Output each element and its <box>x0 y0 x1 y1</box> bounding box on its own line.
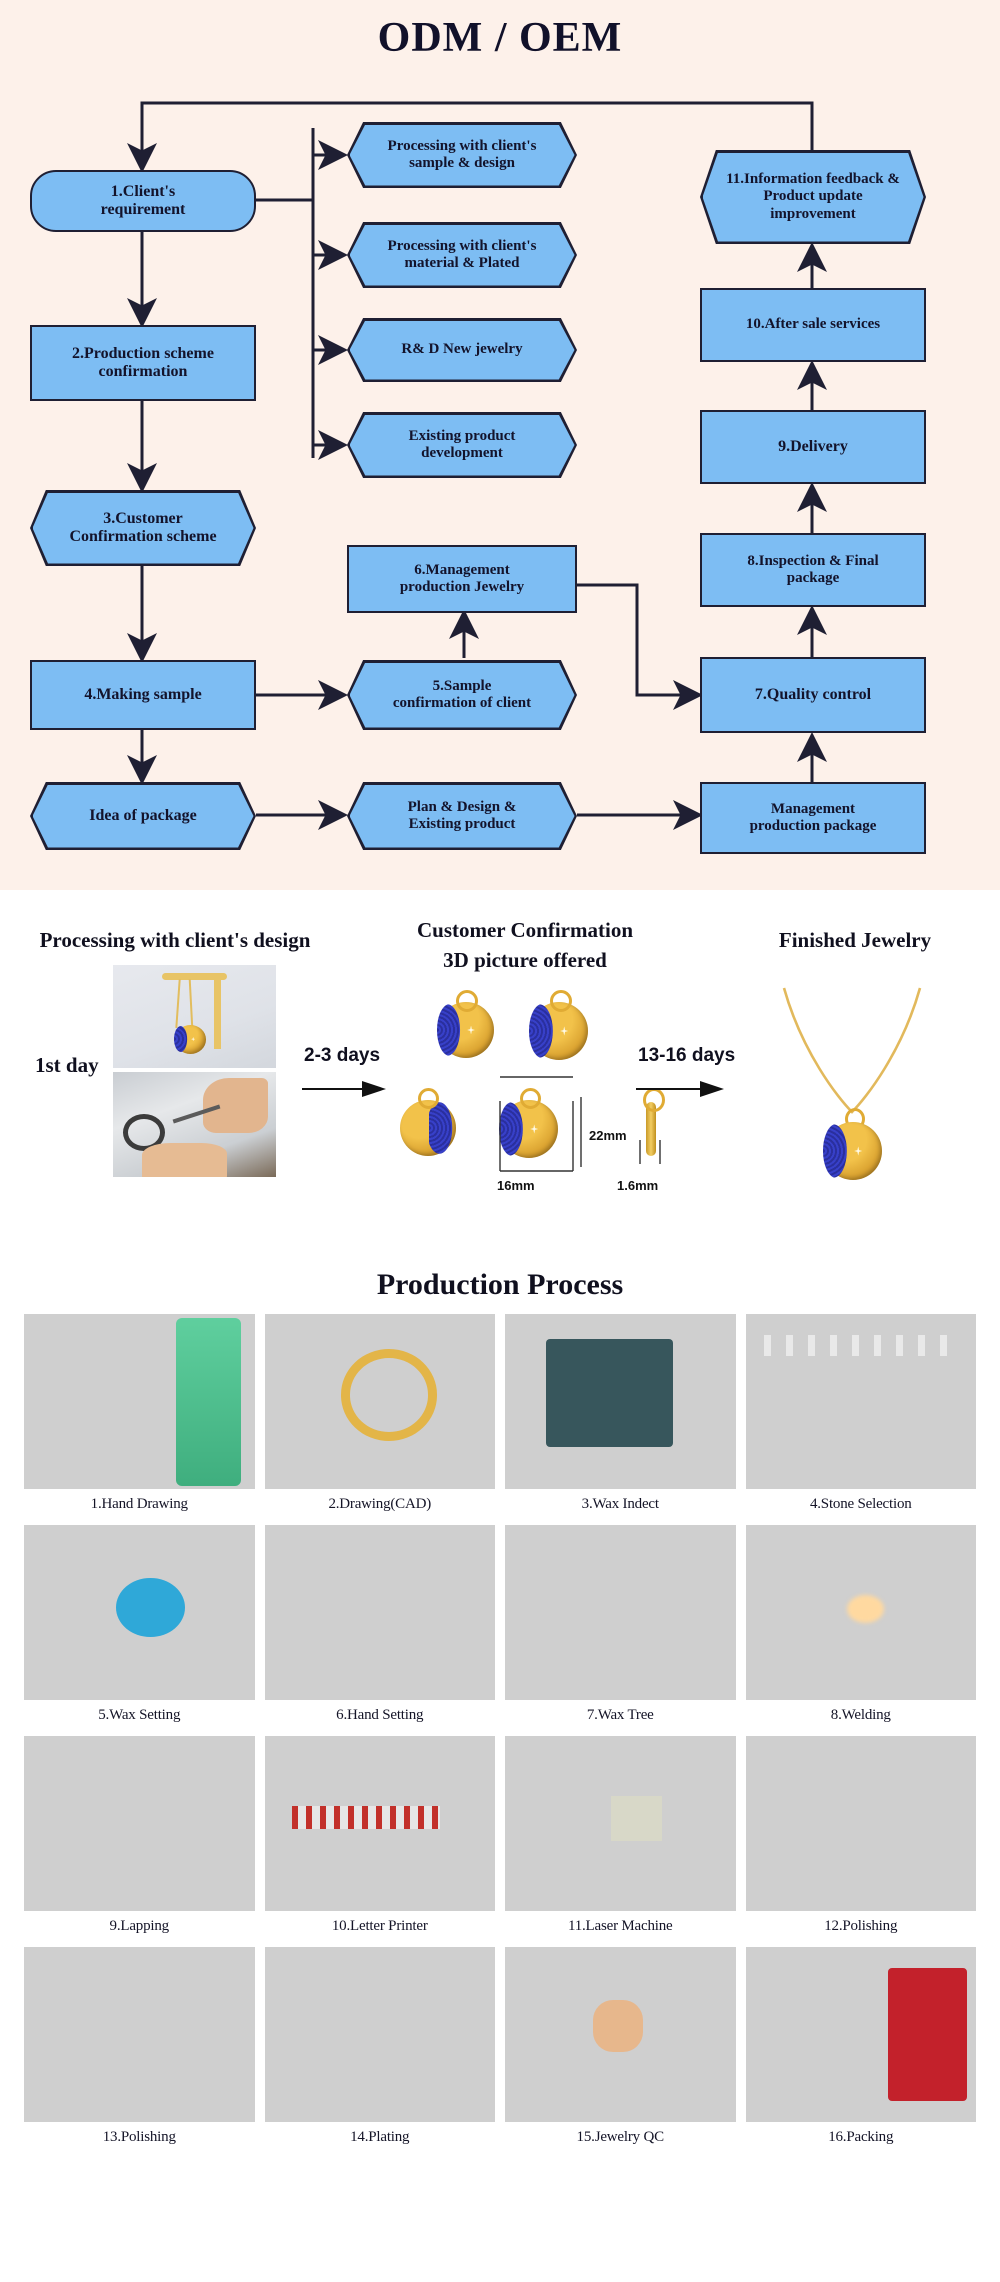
production-step-card[interactable]: 7.Wax Tree <box>505 1525 736 1728</box>
pendant-star <box>854 1146 862 1155</box>
flow-node-idea-of-package[interactable]: Idea of package <box>30 782 256 850</box>
timeline-arrow2-icon <box>634 1075 726 1103</box>
production-step-photo <box>24 1525 255 1700</box>
flow-node-information-feedback[interactable]: 11.Information feedback & Product update… <box>700 150 926 244</box>
production-step-caption: 12.Polishing <box>746 1911 977 1939</box>
pendant-star <box>560 1026 568 1035</box>
pendant-pave <box>823 1124 850 1177</box>
flowchart-title: ODM / OEM <box>0 14 1000 62</box>
flow-node-label: Plan & Design & Existing product <box>347 799 577 834</box>
timeline-arrow1-label: 2-3 days <box>304 1045 380 1067</box>
production-step-caption: 6.Hand Setting <box>265 1700 496 1728</box>
production-step-card[interactable]: 15.Jewelry QC <box>505 1947 736 2150</box>
production-step-photo <box>24 1314 255 1489</box>
necklace-pendant <box>824 1122 882 1180</box>
timeline-photo-client-design-necklace <box>113 965 276 1068</box>
production-step-card[interactable]: 16.Packing <box>746 1947 977 2150</box>
timeline-photo-client-design-workbench <box>113 1072 276 1177</box>
flow-node-label: 10.After sale services <box>746 316 880 333</box>
production-step-photo <box>24 1947 255 2122</box>
flow-node-existing-product-development[interactable]: Existing product development <box>347 412 577 478</box>
production-step-photo <box>24 1736 255 1911</box>
timeline-dim-height-label: 22mm <box>589 1128 627 1143</box>
flow-node-label: 1.Client's requirement <box>101 183 186 220</box>
flow-node-label: 9.Delivery <box>778 438 848 456</box>
odm-oem-flowchart-section: ODM / OEM <box>0 0 1000 890</box>
timeline-arrow1-icon <box>300 1075 388 1103</box>
pendant-art <box>175 1025 206 1054</box>
production-step-caption: 9.Lapping <box>24 1911 255 1939</box>
production-step-card[interactable]: 11.Laser Machine <box>505 1736 736 1939</box>
production-step-caption: 13.Polishing <box>24 2122 255 2150</box>
production-step-caption: 7.Wax Tree <box>505 1700 736 1728</box>
flow-node-label: R& D New jewelry <box>347 341 577 358</box>
flow-node-label: 6.Management production Jewelry <box>400 562 524 597</box>
production-step-caption: 11.Laser Machine <box>505 1911 736 1939</box>
flow-node-label: Existing product development <box>347 428 577 463</box>
production-step-card[interactable]: 5.Wax Setting <box>24 1525 255 1728</box>
flow-node-client-requirement[interactable]: 1.Client's requirement <box>30 170 256 232</box>
production-step-photo <box>746 1525 977 1700</box>
flow-node-management-production-package[interactable]: Management production package <box>700 782 926 854</box>
production-step-photo <box>265 1947 496 2122</box>
flow-node-label: 5.Sample confirmation of client <box>347 678 577 713</box>
flow-node-customer-confirmation-scheme[interactable]: 3.Customer Confirmation scheme <box>30 490 256 566</box>
production-step-caption: 4.Stone Selection <box>746 1489 977 1517</box>
flow-node-inspection-final-package[interactable]: 8.Inspection & Final package <box>700 533 926 607</box>
flow-node-plan-design-existing-product[interactable]: Plan & Design & Existing product <box>347 782 577 850</box>
flow-node-label: Management production package <box>750 801 877 836</box>
production-step-caption: 3.Wax Indect <box>505 1489 736 1517</box>
timeline-step2-subheading: 3D picture offered <box>385 948 665 973</box>
flow-node-management-production-jewelry[interactable]: 6.Management production Jewelry <box>347 545 577 613</box>
flow-node-rd-new-jewelry[interactable]: R& D New jewelry <box>347 318 577 382</box>
production-step-card[interactable]: 3.Wax Indect <box>505 1314 736 1517</box>
production-process-section: Production Process 1.Hand Drawing 2.Draw… <box>0 1260 1000 2176</box>
timeline-step1-heading: Processing with client's design <box>30 928 320 953</box>
production-step-photo <box>505 1947 736 2122</box>
production-step-card[interactable]: 13.Polishing <box>24 1947 255 2150</box>
pendant-star <box>467 1026 475 1035</box>
production-step-card[interactable]: 9.Lapping <box>24 1736 255 1939</box>
delivery-timeline-section: Processing with client's design Customer… <box>0 890 1000 1260</box>
flow-node-label: Idea of package <box>30 807 256 825</box>
pendant-pave <box>174 1026 188 1053</box>
flow-node-label: 7.Quality control <box>755 686 871 704</box>
timeline-3d-bail-1 <box>456 990 478 1012</box>
production-step-card[interactable]: 10.Letter Printer <box>265 1736 496 1939</box>
production-step-caption: 8.Welding <box>746 1700 977 1728</box>
production-step-caption: 2.Drawing(CAD) <box>265 1489 496 1517</box>
timeline-dim-thickness-label: 1.6mm <box>617 1178 658 1193</box>
flow-node-label: 11.Information feedback & Product update… <box>700 171 926 223</box>
production-step-photo <box>505 1314 736 1489</box>
production-step-caption: 10.Letter Printer <box>265 1911 496 1939</box>
flow-node-processing-client-sample-design[interactable]: Processing with client's sample & design <box>347 122 577 188</box>
flow-node-label: 4.Making sample <box>84 686 201 704</box>
pendant-pave <box>437 1004 463 1056</box>
flow-node-label: 3.Customer Confirmation scheme <box>30 510 256 547</box>
timeline-first-day-label: 1st day <box>35 1053 99 1078</box>
flow-node-production-scheme[interactable]: 2.Production scheme confirmation <box>30 325 256 401</box>
production-step-card[interactable]: 8.Welding <box>746 1525 977 1728</box>
production-step-photo <box>265 1736 496 1911</box>
production-step-card[interactable]: 14.Plating <box>265 1947 496 2150</box>
flow-node-delivery[interactable]: 9.Delivery <box>700 410 926 484</box>
flow-node-label: 2.Production scheme confirmation <box>72 345 214 382</box>
flow-node-label: Processing with client's sample & design <box>347 138 577 173</box>
production-step-caption: 15.Jewelry QC <box>505 2122 736 2150</box>
timeline-step2-heading: Customer Confirmation <box>385 918 665 943</box>
production-step-caption: 14.Plating <box>265 2122 496 2150</box>
pendant-star <box>191 1037 195 1042</box>
production-step-photo <box>746 1947 977 2122</box>
flow-node-label: 8.Inspection & Final package <box>747 553 878 588</box>
production-step-photo <box>265 1314 496 1489</box>
timeline-thickness-dimension <box>634 1138 674 1172</box>
production-step-caption: 1.Hand Drawing <box>24 1489 255 1517</box>
production-step-photo <box>265 1525 496 1700</box>
timeline-arrow2-label: 13-16 days <box>638 1045 735 1067</box>
production-step-card[interactable]: 4.Stone Selection <box>746 1314 977 1517</box>
production-process-title: Production Process <box>0 1260 1000 1314</box>
production-process-grid: 1.Hand Drawing 2.Drawing(CAD) 3.Wax Inde… <box>0 1314 1000 2150</box>
timeline-dim-width-label: 16mm <box>497 1178 535 1193</box>
production-step-photo <box>746 1736 977 1911</box>
production-step-caption: 5.Wax Setting <box>24 1700 255 1728</box>
production-step-card[interactable]: 1.Hand Drawing <box>24 1314 255 1517</box>
flow-node-sample-confirmation-of-client[interactable]: 5.Sample confirmation of client <box>347 660 577 730</box>
production-step-card[interactable]: 2.Drawing(CAD) <box>265 1314 496 1517</box>
production-step-card[interactable]: 6.Hand Setting <box>265 1525 496 1728</box>
flow-node-processing-client-material-plated[interactable]: Processing with client's material & Plat… <box>347 222 577 288</box>
timeline-3d-bail-2 <box>550 990 572 1012</box>
flow-node-making-sample[interactable]: 4.Making sample <box>30 660 256 730</box>
timeline-finished-necklace <box>742 980 962 1200</box>
production-step-card[interactable]: 12.Polishing <box>746 1736 977 1939</box>
production-step-caption: 16.Packing <box>746 2122 977 2150</box>
timeline-3d-bail-3 <box>418 1088 439 1109</box>
pendant-pave <box>429 1102 455 1154</box>
flow-node-quality-control[interactable]: 7.Quality control <box>700 657 926 733</box>
flow-node-label: Processing with client's material & Plat… <box>347 238 577 273</box>
flow-node-after-sale-services[interactable]: 10.After sale services <box>700 288 926 362</box>
production-step-photo <box>746 1314 977 1489</box>
timeline-step3-heading: Finished Jewelry <box>730 928 980 953</box>
production-step-photo <box>505 1736 736 1911</box>
pendant-pave <box>529 1004 556 1057</box>
production-step-photo <box>505 1525 736 1700</box>
